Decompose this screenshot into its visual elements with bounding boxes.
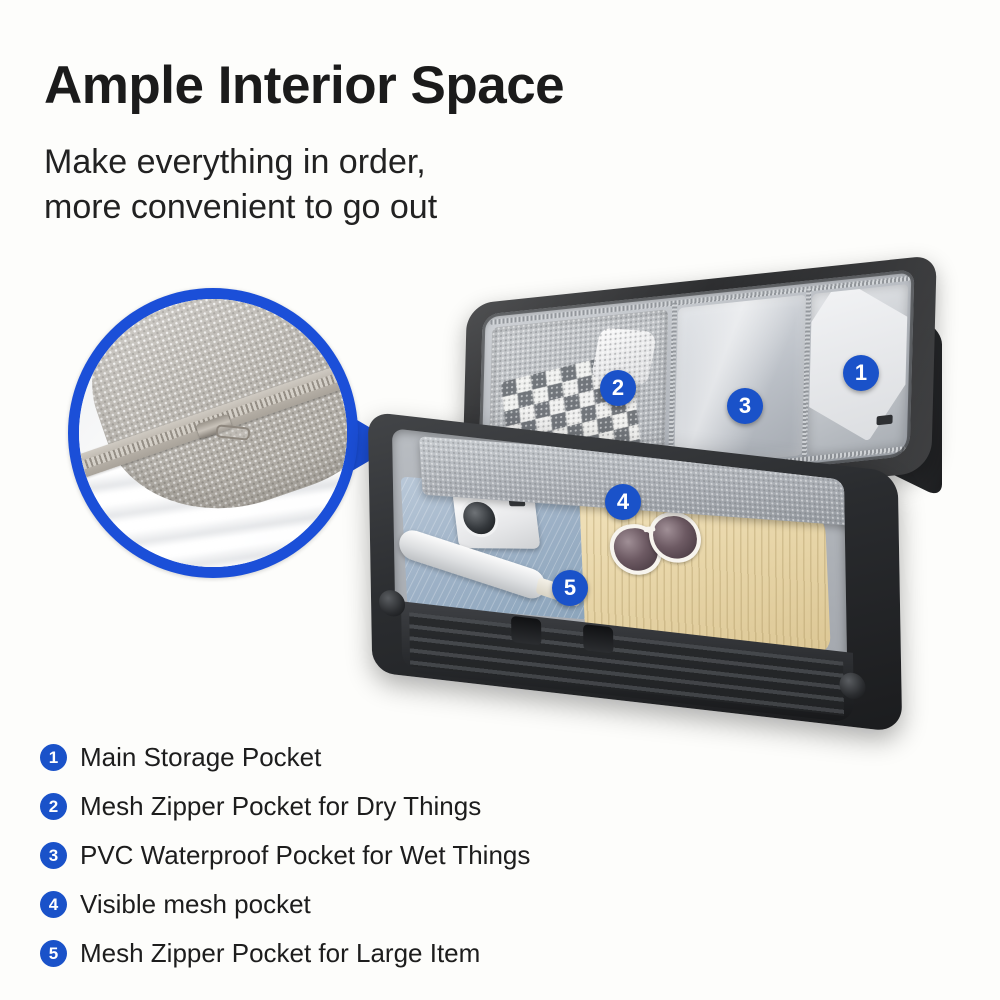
pocket-tab [876, 415, 892, 426]
page-title: Ample Interior Space [44, 58, 744, 114]
photo-badge-3: 3 [727, 388, 763, 424]
camera-lens [461, 502, 497, 535]
legend-badge-4: 4 [40, 891, 67, 918]
latch-left [511, 616, 541, 645]
legend-item-4: 4 Visible mesh pocket [40, 880, 760, 929]
page-subtitle: Make everything in order, more convenien… [44, 140, 744, 230]
legend-label-1: Main Storage Pocket [80, 742, 321, 773]
photo-badge-4: 4 [605, 484, 641, 520]
product-photo [0, 270, 1000, 720]
mesh-zipper-pocket-callout [68, 288, 358, 578]
pvc-waterproof-pocket [674, 295, 806, 469]
suitcase [352, 270, 972, 720]
legend-label-2: Mesh Zipper Pocket for Dry Things [80, 791, 481, 822]
legend-label-4: Visible mesh pocket [80, 889, 311, 920]
page-subtitle-line-2: more convenient to go out [44, 185, 744, 230]
photo-badge-5: 5 [552, 570, 588, 606]
legend-item-2: 2 Mesh Zipper Pocket for Dry Things [40, 782, 760, 831]
callout-photo [79, 299, 347, 567]
legend-item-3: 3 PVC Waterproof Pocket for Wet Things [40, 831, 760, 880]
legend-badge-5: 5 [40, 940, 67, 967]
page-subtitle-line-1: Make everything in order, [44, 140, 744, 185]
photo-badge-1: 1 [843, 355, 879, 391]
legend: 1 Main Storage Pocket 2 Mesh Zipper Pock… [40, 733, 760, 978]
latch-right [583, 624, 613, 653]
pvc-sheen [674, 295, 806, 469]
legend-label-3: PVC Waterproof Pocket for Wet Things [80, 840, 530, 871]
legend-badge-3: 3 [40, 842, 67, 869]
legend-item-1: 1 Main Storage Pocket [40, 733, 760, 782]
header: Ample Interior Space Make everything in … [44, 58, 744, 229]
photo-badge-2: 2 [600, 370, 636, 406]
legend-item-5: 5 Mesh Zipper Pocket for Large Item [40, 929, 760, 978]
legend-badge-2: 2 [40, 793, 67, 820]
legend-badge-1: 1 [40, 744, 67, 771]
legend-label-5: Mesh Zipper Pocket for Large Item [80, 938, 480, 969]
